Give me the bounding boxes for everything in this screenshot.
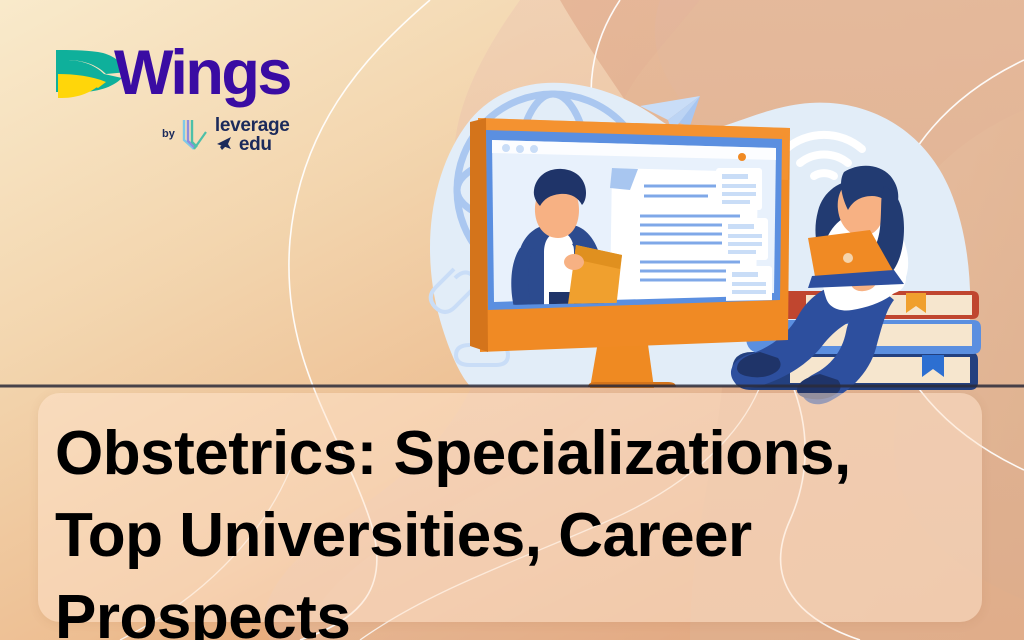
leverage-edu-lockup: by leverage edu bbox=[162, 116, 325, 152]
rocket-icon bbox=[215, 134, 235, 152]
browser-dots bbox=[502, 144, 538, 153]
wings-lockup: Wings bbox=[42, 46, 292, 120]
brand-logo[interactable]: Wings by leverage edu bbox=[42, 46, 292, 168]
page-title: Obstetrics: Specializations, Top Univers… bbox=[55, 413, 967, 640]
leverage-word: leverage bbox=[215, 116, 290, 135]
wings-wordmark: Wings bbox=[114, 42, 290, 105]
edu-word: edu bbox=[239, 135, 272, 154]
status-dot bbox=[738, 153, 746, 161]
title-card: Obstetrics: Specializations, Top Univers… bbox=[38, 393, 982, 622]
banner-canvas: Wings by leverage edu Obstetrics: Specia… bbox=[0, 0, 1024, 640]
by-label: by bbox=[162, 128, 175, 140]
leverage-edu-wordmark: leverage edu bbox=[215, 116, 325, 152]
leverage-checkmark-icon bbox=[181, 118, 209, 151]
